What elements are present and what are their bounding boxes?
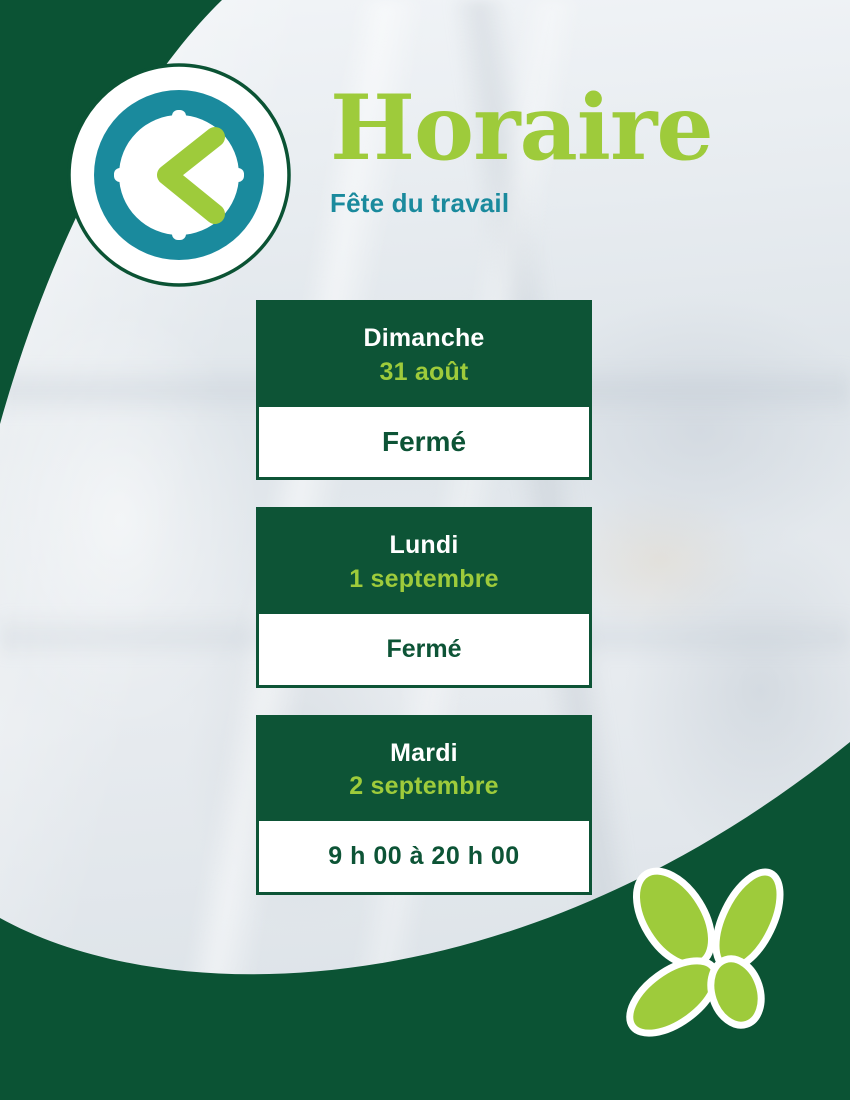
schedule-card: Lundi 1 septembre Fermé (256, 507, 592, 688)
page-subtitle: Fête du travail (330, 188, 770, 219)
schedule-hours: 9 h 00 à 20 h 00 (256, 821, 592, 895)
schedule-day-date: 2 septembre (264, 771, 584, 801)
schedule-card-list: Dimanche 31 août Fermé Lundi 1 septembre… (256, 300, 592, 895)
schedule-day-date: 1 septembre (264, 564, 584, 594)
schedule-card-header: Lundi 1 septembre (256, 507, 592, 614)
schedule-poster: Horaire Fête du travail Dimanche 31 août… (0, 0, 850, 1100)
clock-tick-12 (172, 110, 186, 130)
clock-tick-9 (114, 168, 134, 182)
schedule-card-header: Mardi 2 septembre (256, 715, 592, 822)
schedule-hours: Fermé (256, 614, 592, 688)
schedule-day-name: Mardi (264, 739, 584, 768)
schedule-day-name: Lundi (264, 531, 584, 560)
clock-tick-6 (172, 220, 186, 240)
schedule-day-name: Dimanche (264, 324, 584, 353)
clock-tick-3 (224, 168, 244, 182)
header-text-block: Horaire Fête du travail (330, 84, 770, 219)
schedule-card: Mardi 2 septembre 9 h 00 à 20 h 00 (256, 715, 592, 896)
butterfly-logo-icon (618, 862, 804, 1058)
page-title: Horaire (330, 84, 770, 172)
schedule-day-date: 31 août (264, 357, 584, 387)
schedule-card: Dimanche 31 août Fermé (256, 300, 592, 480)
logo-petal-top-right (703, 862, 794, 977)
clock-icon (66, 62, 292, 288)
schedule-card-header: Dimanche 31 août (256, 300, 592, 407)
schedule-hours: Fermé (256, 407, 592, 480)
logo-petal-top-left (621, 862, 727, 978)
